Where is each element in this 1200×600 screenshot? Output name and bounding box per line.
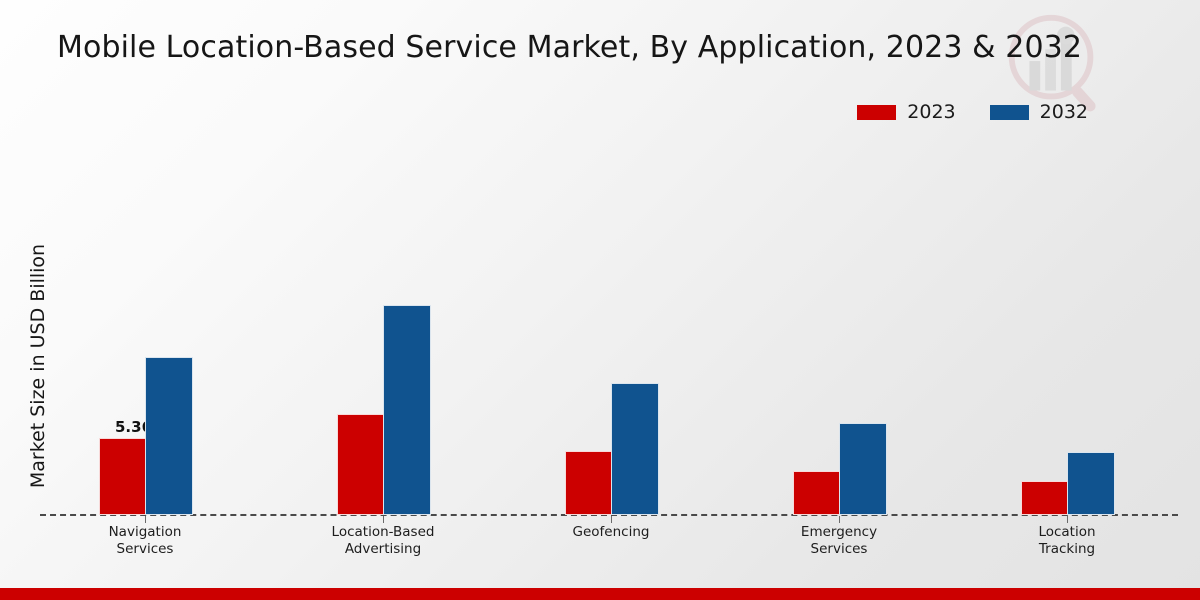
x-axis-label-line: Geofencing bbox=[573, 524, 650, 541]
x-axis-tick-1 bbox=[145, 516, 146, 523]
bar-2023-2[interactable] bbox=[337, 414, 385, 515]
plot-area: 5.36NavigationServicesLocation-BasedAdve… bbox=[0, 0, 1200, 600]
bar-2032-2[interactable] bbox=[383, 305, 431, 515]
bar-2032-1[interactable] bbox=[145, 357, 193, 515]
x-axis-tick-2 bbox=[383, 516, 384, 523]
x-axis-tick-3 bbox=[611, 516, 612, 523]
x-axis-label-2: Location-BasedAdvertising bbox=[332, 524, 435, 558]
x-axis-label-1: NavigationServices bbox=[109, 524, 182, 558]
x-axis-label-line: Location bbox=[1038, 524, 1095, 541]
bar-2032-3[interactable] bbox=[611, 383, 659, 515]
x-axis-label-line: Emergency bbox=[801, 524, 877, 541]
x-axis-label-5: LocationTracking bbox=[1038, 524, 1095, 558]
chart-container: Mobile Location-Based Service Market, By… bbox=[0, 0, 1200, 600]
bar-2023-3[interactable] bbox=[565, 451, 613, 515]
footer-accent-bar bbox=[0, 588, 1200, 600]
bar-2032-5[interactable] bbox=[1067, 452, 1115, 515]
x-axis-label-3: Geofencing bbox=[573, 524, 650, 541]
x-axis-tick-4 bbox=[839, 516, 840, 523]
x-axis-label-line: Advertising bbox=[332, 541, 435, 558]
x-axis-label-line: Location-Based bbox=[332, 524, 435, 541]
x-axis-label-4: EmergencyServices bbox=[801, 524, 877, 558]
bar-2032-4[interactable] bbox=[839, 423, 887, 515]
x-axis-tick-5 bbox=[1067, 516, 1068, 523]
bar-2023-4[interactable] bbox=[793, 471, 841, 515]
bar-2023-5[interactable] bbox=[1021, 481, 1069, 515]
x-axis-label-line: Services bbox=[801, 541, 877, 558]
x-axis-label-line: Services bbox=[109, 541, 182, 558]
x-axis-label-line: Navigation bbox=[109, 524, 182, 541]
bar-2023-1[interactable] bbox=[99, 438, 147, 515]
x-axis-label-line: Tracking bbox=[1038, 541, 1095, 558]
